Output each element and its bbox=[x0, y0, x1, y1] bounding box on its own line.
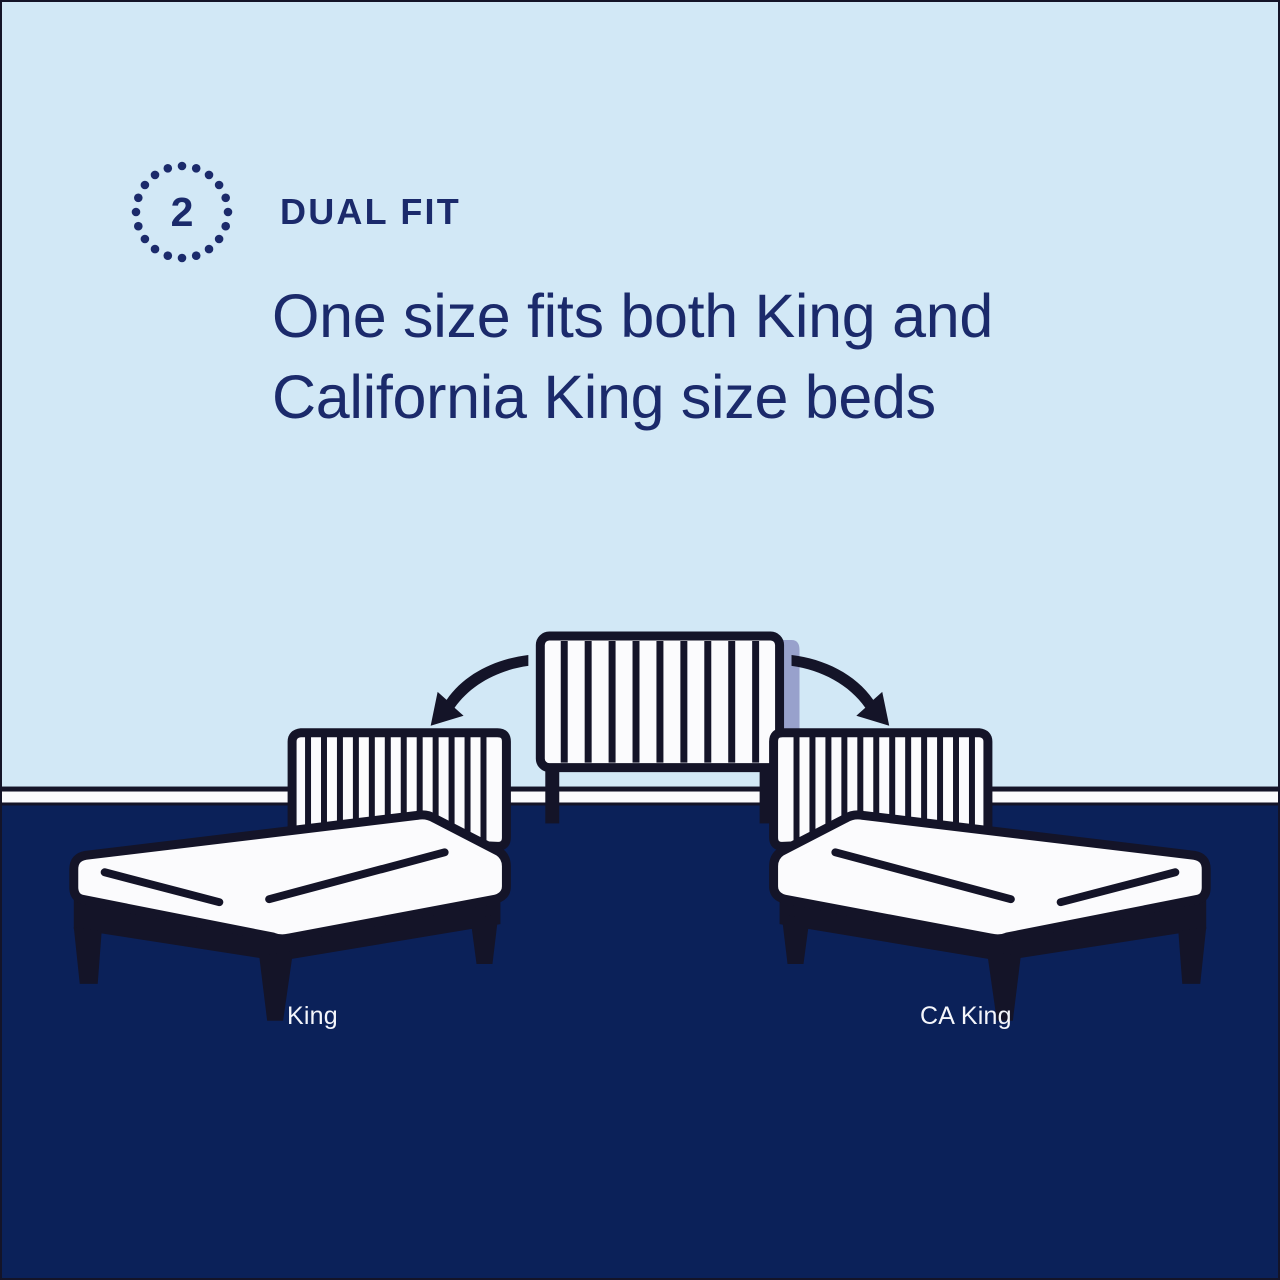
ca-king-bed-label: CA King bbox=[920, 1002, 1012, 1031]
step-badge: 2 bbox=[130, 160, 234, 264]
promo-card: 2 DUAL FIT One size fits both King and C… bbox=[0, 0, 1280, 1280]
step-number: 2 bbox=[130, 160, 234, 264]
baseboard-line-top bbox=[2, 787, 1278, 792]
section-eyebrow: DUAL FIT bbox=[280, 191, 461, 233]
king-bed-label: King bbox=[287, 1002, 338, 1031]
step-header: 2 DUAL FIT bbox=[130, 160, 461, 264]
headline-line-1: One size fits both King and bbox=[272, 276, 1192, 357]
page-title: One size fits both King and California K… bbox=[272, 276, 1192, 438]
headline-line-2: California King size beds bbox=[272, 357, 1192, 438]
